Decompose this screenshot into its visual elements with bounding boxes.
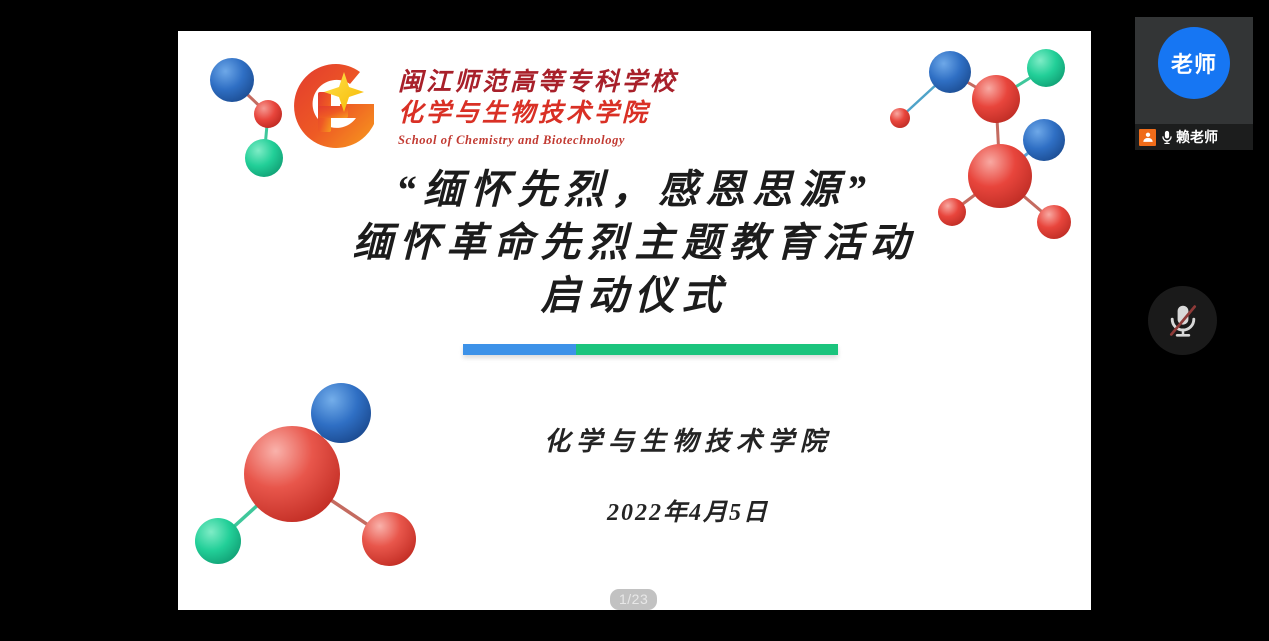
footer-organization: 化学与生物技术学院	[478, 421, 898, 458]
shared-presentation-slide[interactable]: 闽江师范高等专科学校 化学与生物技术学院 School of Chemistry…	[178, 31, 1091, 610]
slide-title: “缅怀先烈，感恩思源” 缅怀革命先烈主题教育活动 启动仪式	[178, 166, 1091, 320]
host-person-icon	[1139, 129, 1156, 146]
divider-segment-green	[576, 344, 839, 355]
school-name-group: 闽江师范高等专科学校 化学与生物技术学院 School of Chemistry…	[398, 63, 678, 149]
title-divider	[463, 344, 838, 355]
page-indicator: 1/23	[610, 589, 657, 610]
school-name: 闽江师范高等专科学校	[398, 67, 678, 98]
divider-segment-blue	[463, 344, 576, 355]
microphone-muted-icon[interactable]	[1148, 286, 1217, 355]
university-emblem-icon	[288, 58, 384, 154]
microphone-icon	[1159, 128, 1175, 146]
participant-video-tile[interactable]: 老师 赖老师	[1135, 17, 1253, 150]
participant-name: 赖老师	[1176, 127, 1218, 147]
title-line-3: 启动仪式	[178, 272, 1091, 319]
title-line-1: “缅怀先烈，感恩思源”	[178, 166, 1091, 213]
slide-footer: 化学与生物技术学院 2022年4月5日	[478, 421, 898, 527]
department-name: 化学与生物技术学院	[398, 98, 678, 129]
avatar: 老师	[1158, 27, 1230, 99]
avatar-initials: 老师	[1171, 47, 1217, 79]
title-line-2: 缅怀革命先烈主题教育活动	[178, 219, 1091, 266]
school-name-english: School of Chemistry and Biotechnology	[398, 133, 678, 148]
participant-footer: 赖老师	[1135, 124, 1253, 150]
footer-date: 2022年4月5日	[478, 492, 898, 527]
meeting-screen: 闽江师范高等专科学校 化学与生物技术学院 School of Chemistry…	[0, 0, 1269, 641]
molecule-icon	[183, 351, 448, 601]
school-logo-lockup: 闽江师范高等专科学校 化学与生物技术学院 School of Chemistry…	[288, 48, 768, 163]
